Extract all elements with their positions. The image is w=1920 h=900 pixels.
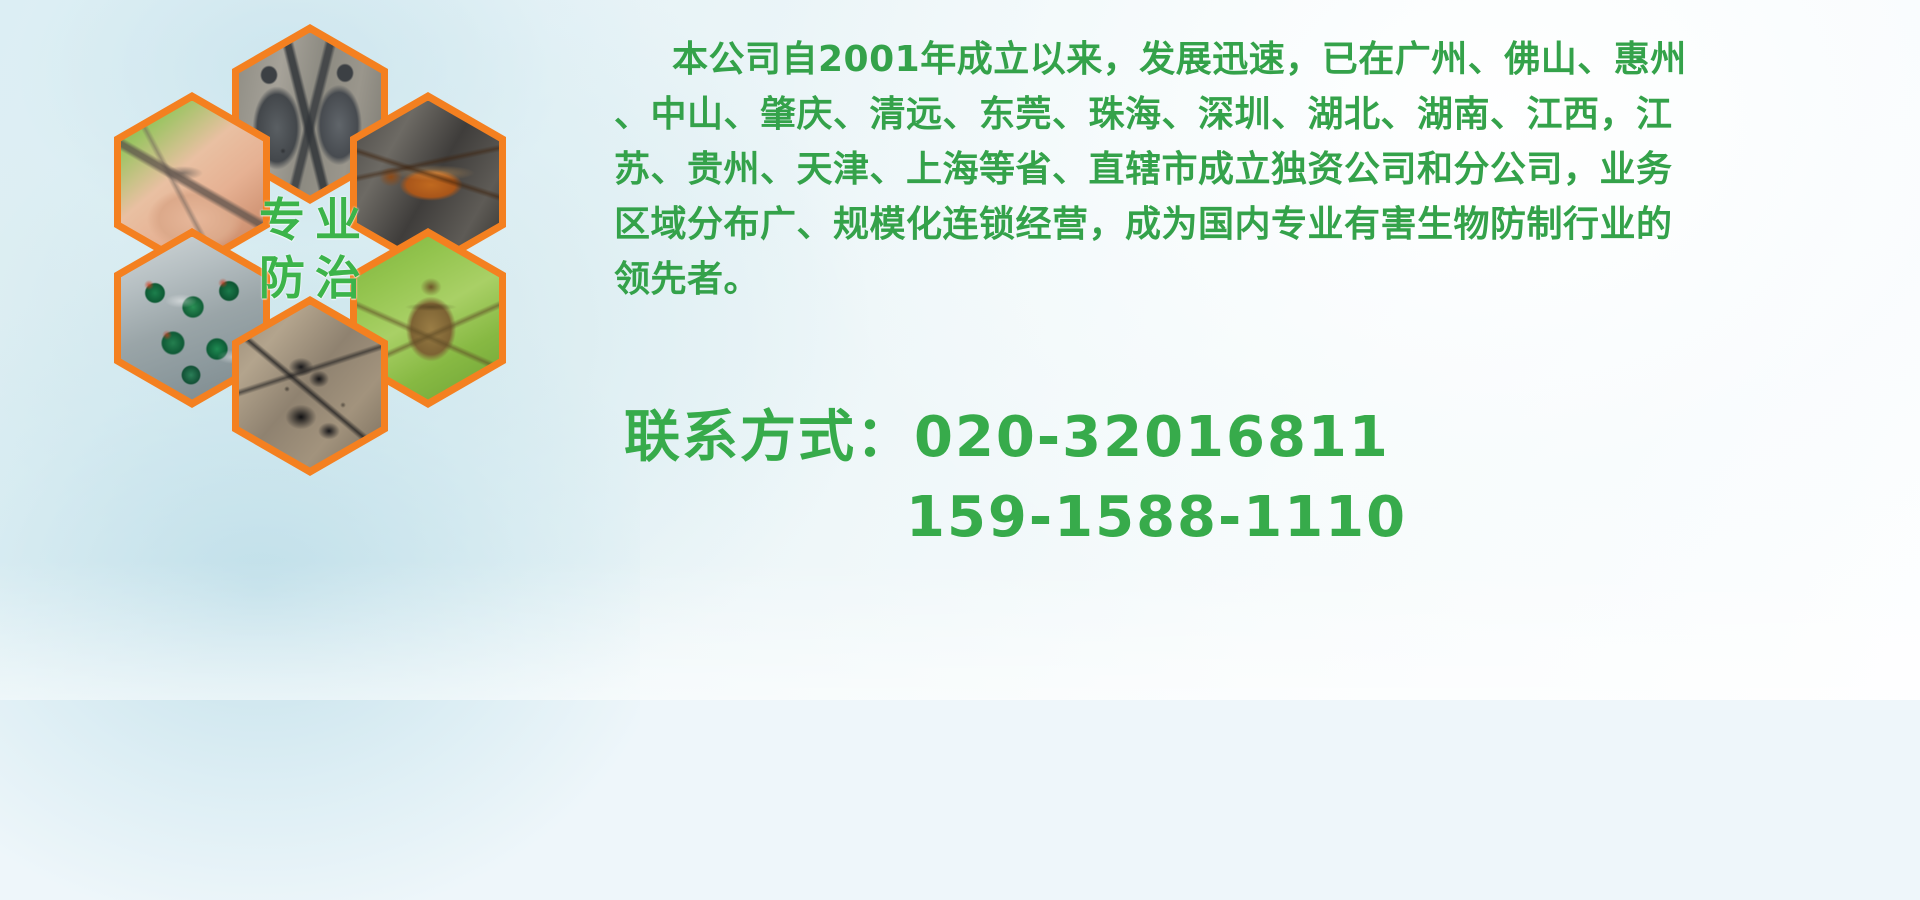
hexagon-photo-cluster: 专业 防治 xyxy=(92,10,592,570)
promo-banner: 专业 防治 本公司自2001年成立以来，发展迅速，已在广州、佛山、惠州 、中山、… xyxy=(0,0,1920,700)
background-fade-bottom xyxy=(0,560,1920,700)
description-line-2: 、中山、肇庆、清远、东莞、珠海、深圳、湖北、湖南、江西，江 xyxy=(614,87,1904,142)
company-description: 本公司自2001年成立以来，发展迅速，已在广州、佛山、惠州 、中山、肇庆、清远、… xyxy=(614,32,1904,307)
hex-tile-slogan: 专业 防治 xyxy=(232,160,388,340)
description-line-5: 领先者。 xyxy=(614,252,1904,307)
slogan-line-1: 专业 xyxy=(249,195,371,247)
slogan-line-2: 防治 xyxy=(249,253,371,305)
description-line-3: 苏、贵州、天津、上海等省、直辖市成立独资公司和分公司，业务 xyxy=(614,142,1904,197)
contact-primary-line[interactable]: 联系方式：020-32016811 xyxy=(614,398,1904,478)
description-line-4: 区域分布广、规模化连锁经营，成为国内专业有害生物防制行业的 xyxy=(614,197,1904,252)
contact-secondary-number[interactable]: 159-1588-1110 xyxy=(614,478,1904,558)
description-line-1: 本公司自2001年成立以来，发展迅速，已在广州、佛山、惠州 xyxy=(614,32,1904,87)
contact-info: 联系方式：020-32016811 159-1588-1110 xyxy=(614,398,1904,558)
